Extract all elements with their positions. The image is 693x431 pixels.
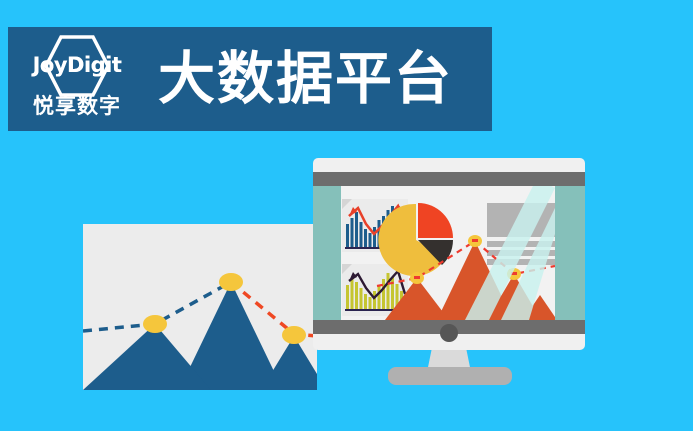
brand-logo: JoyDigit 悦享数字 [18, 33, 136, 125]
monitor-top-bar [313, 172, 585, 186]
logo-subtitle: 悦享数字 [18, 90, 136, 120]
logo-wordmark: JoyDigit [18, 53, 136, 77]
left-mountain-panel [83, 224, 317, 390]
data-marker [282, 326, 306, 344]
header-banner: JoyDigit 悦享数字 大数据平台 [8, 27, 492, 131]
screen-right-band [555, 186, 585, 320]
illustration-canvas: JoyDigit 悦享数字 大数据平台 [0, 0, 693, 431]
dashboard-graphics [341, 186, 555, 320]
dashboard-area [341, 186, 555, 320]
data-marker [143, 315, 167, 333]
data-marker [219, 273, 243, 291]
mountain-peak-left [83, 324, 211, 390]
page-title: 大数据平台 [158, 51, 453, 108]
monitor-screen [313, 186, 585, 320]
desktop-monitor [313, 158, 585, 350]
monitor-base [388, 367, 512, 385]
screen-left-band [313, 186, 341, 320]
mountain-area-chart [83, 224, 317, 390]
power-indicator-icon [440, 324, 458, 342]
